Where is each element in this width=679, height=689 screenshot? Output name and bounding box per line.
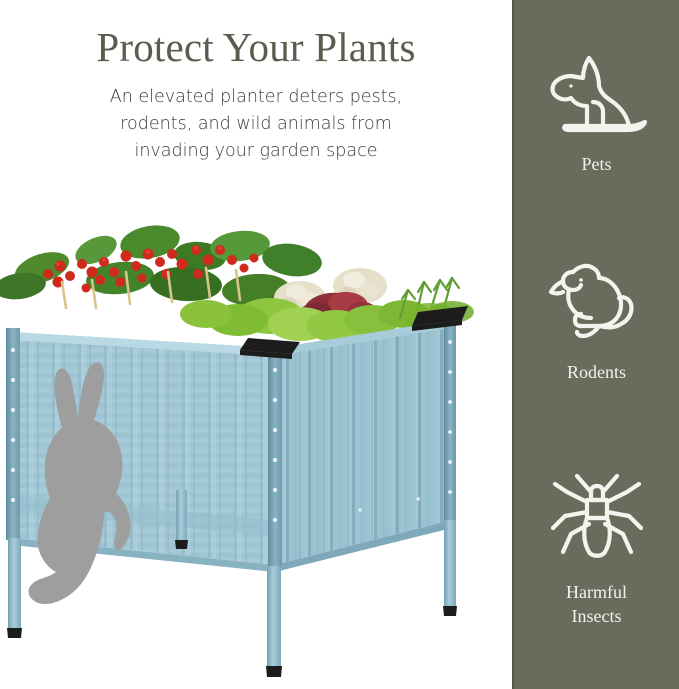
dog-icon xyxy=(514,48,679,140)
feature-item-insects: Harmful Insects xyxy=(514,472,679,628)
subtitle-line-3: invading your garden space xyxy=(46,138,466,165)
marketing-image: Protect Your Plants An elevated planter … xyxy=(0,0,679,689)
insect-icon xyxy=(514,472,679,568)
feature-item-rodents: Rodents xyxy=(514,258,679,384)
feature-label-insects-line-2: Insects xyxy=(514,604,679,628)
planter-product-illustration xyxy=(0,220,512,689)
rodent-icon xyxy=(514,258,679,348)
product-showcase-panel: Protect Your Plants An elevated planter … xyxy=(0,0,512,689)
feature-item-pets: Pets xyxy=(514,48,679,176)
subtitle-text: An elevated planter deters pests, rodent… xyxy=(46,84,466,165)
feature-label-rodents: Rodents xyxy=(514,360,679,384)
subtitle-line-1: An elevated planter deters pests, xyxy=(46,84,466,111)
feature-label-insects-line-1: Harmful xyxy=(514,580,679,604)
feature-label-insects: Harmful Insects xyxy=(514,580,679,628)
feature-sidebar: Pets Rodents xyxy=(512,0,679,689)
subtitle-line-2: rodents, and wild animals from xyxy=(46,111,466,138)
feature-label-pets: Pets xyxy=(514,152,679,176)
page-title: Protect Your Plants xyxy=(0,22,512,72)
